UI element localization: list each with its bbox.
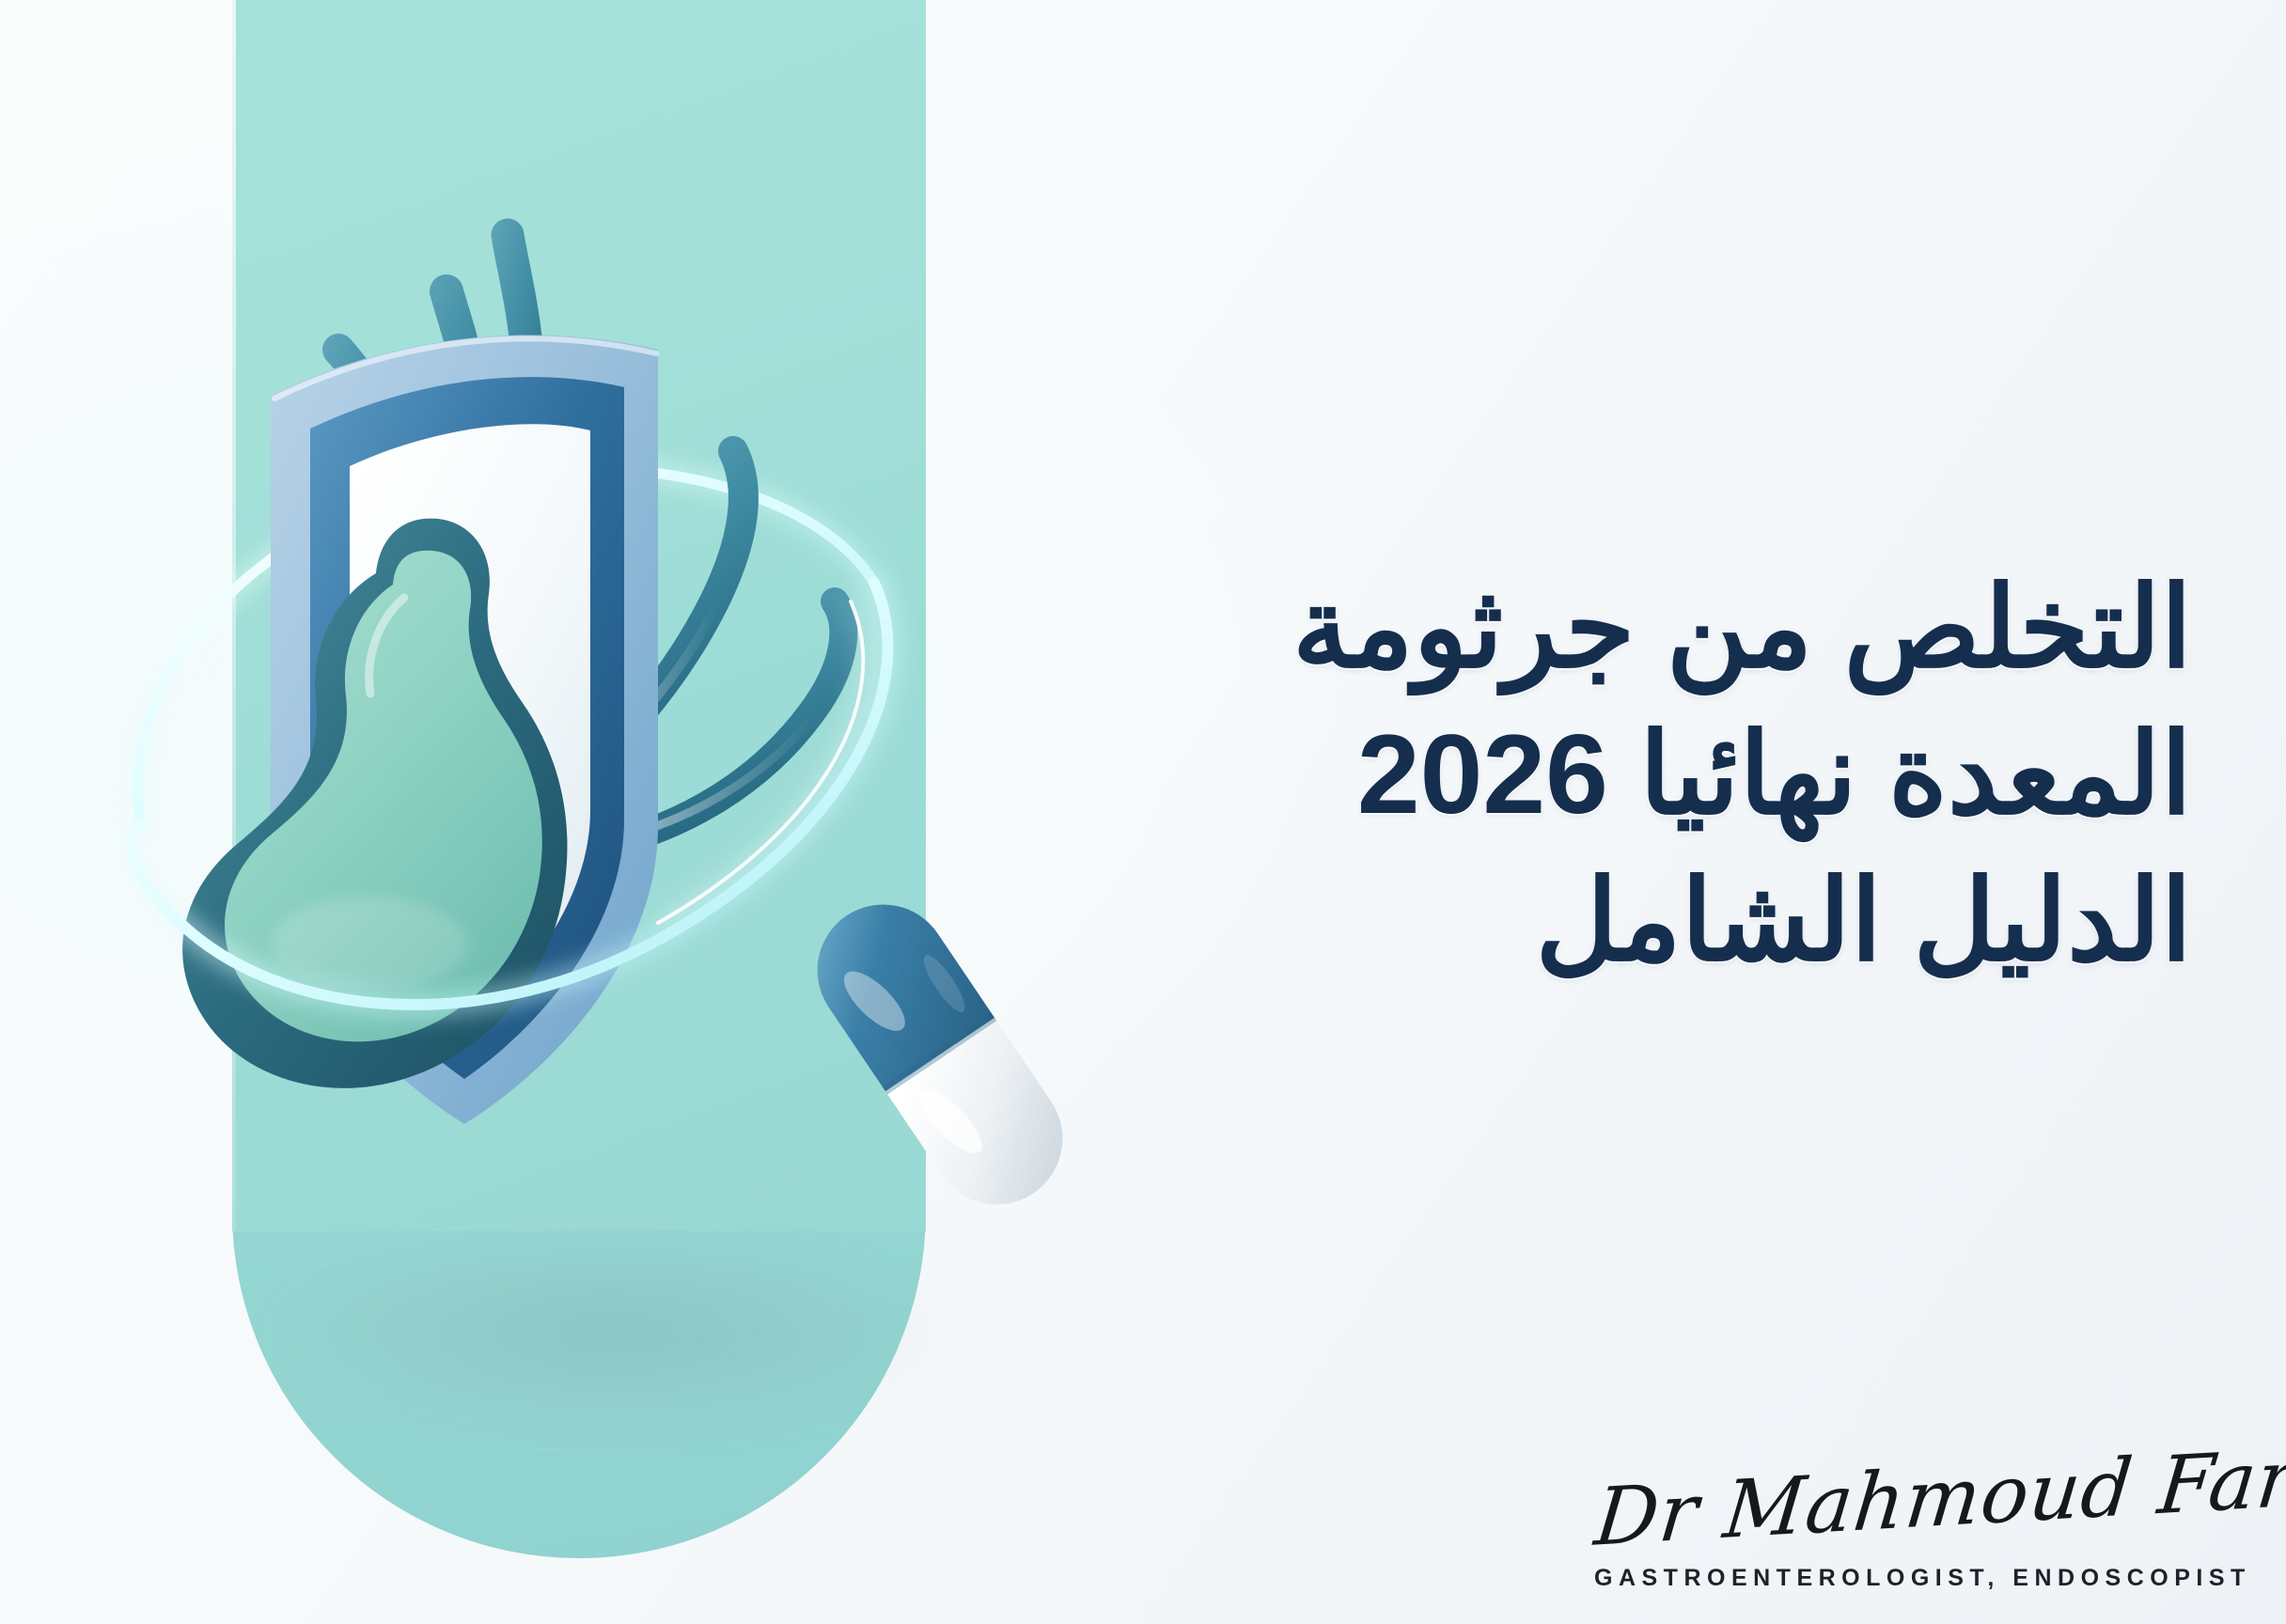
illustration-stage	[0, 0, 1109, 1353]
headline-line-1: التخلص من جرثومة	[1045, 554, 2192, 701]
poster-canvas: التخلص من جرثومة المعدة نهائيا 2026 الدل…	[0, 0, 2286, 1624]
doctor-signature: Dr Mahmoud Farouk	[1591, 1444, 2200, 1556]
page-title: التخلص من جرثومة المعدة نهائيا 2026 الدل…	[1045, 554, 2192, 994]
headline-line-3: الدليل الشامل	[1045, 848, 2192, 994]
signature-block: Dr Mahmoud Farouk GASTROENTEROLOGIST, EN…	[1594, 1458, 2196, 1592]
doctor-credentials: GASTROENTEROLOGIST, ENDOSCOPIST	[1594, 1565, 2196, 1592]
headline-line-2: المعدة نهائيا 2026	[1045, 701, 2192, 848]
medicine-capsule	[791, 879, 1088, 1229]
